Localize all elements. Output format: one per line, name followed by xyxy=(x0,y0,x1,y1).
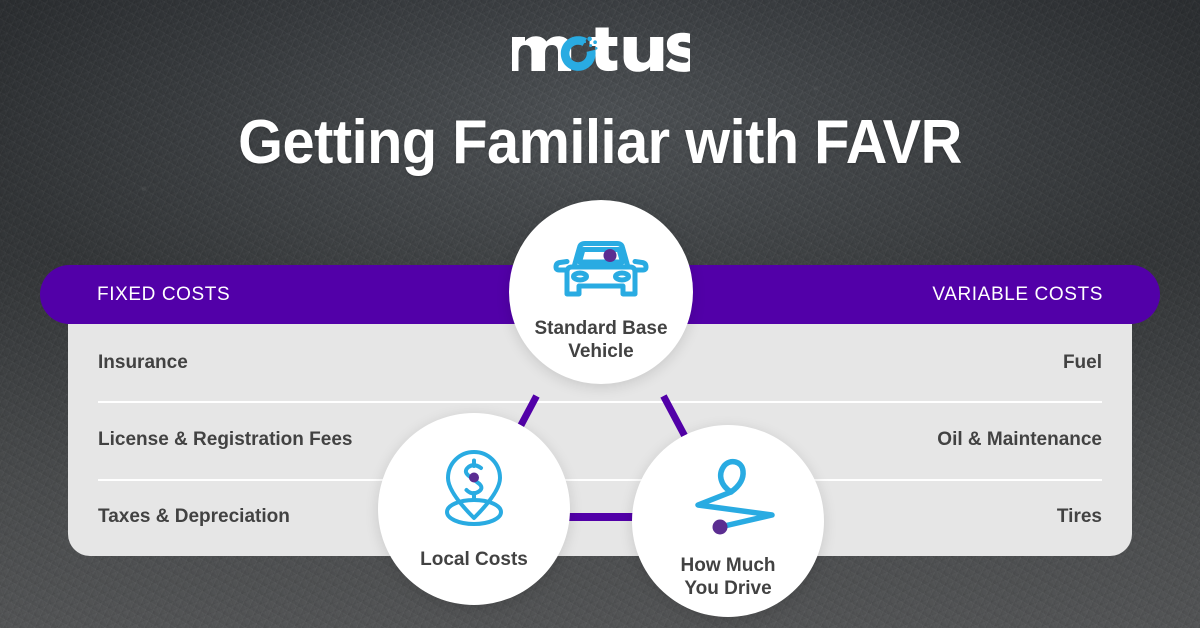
winding-route-icon xyxy=(676,457,780,542)
node-caption: Standard Base Vehicle xyxy=(534,317,667,363)
variable-costs-label: VARIABLE COSTS xyxy=(932,284,1103,306)
motus-logo xyxy=(0,22,1200,76)
car-front-icon xyxy=(553,236,649,307)
fixed-cost-item: License & Registration Fees xyxy=(98,429,352,451)
node-caption: How Much You Drive xyxy=(681,554,776,600)
infographic-canvas: Getting Familiar with FAVR FIXED COSTS V… xyxy=(0,0,1200,628)
fixed-cost-item: Insurance xyxy=(98,352,188,374)
fixed-cost-item: Taxes & Depreciation xyxy=(98,506,290,528)
fixed-costs-label: FIXED COSTS xyxy=(97,284,230,306)
node-local-costs: Local Costs xyxy=(378,413,570,605)
node-caption: Local Costs xyxy=(420,548,528,571)
variable-cost-item: Tires xyxy=(1057,506,1102,528)
map-pin-dollar-icon xyxy=(431,449,517,536)
variable-cost-item: Oil & Maintenance xyxy=(937,429,1102,451)
node-how-much-you-drive: How Much You Drive xyxy=(632,425,824,617)
node-standard-base-vehicle: Standard Base Vehicle xyxy=(509,200,693,384)
variable-cost-item: Fuel xyxy=(1063,352,1102,374)
page-title: Getting Familiar with FAVR xyxy=(42,100,1158,186)
